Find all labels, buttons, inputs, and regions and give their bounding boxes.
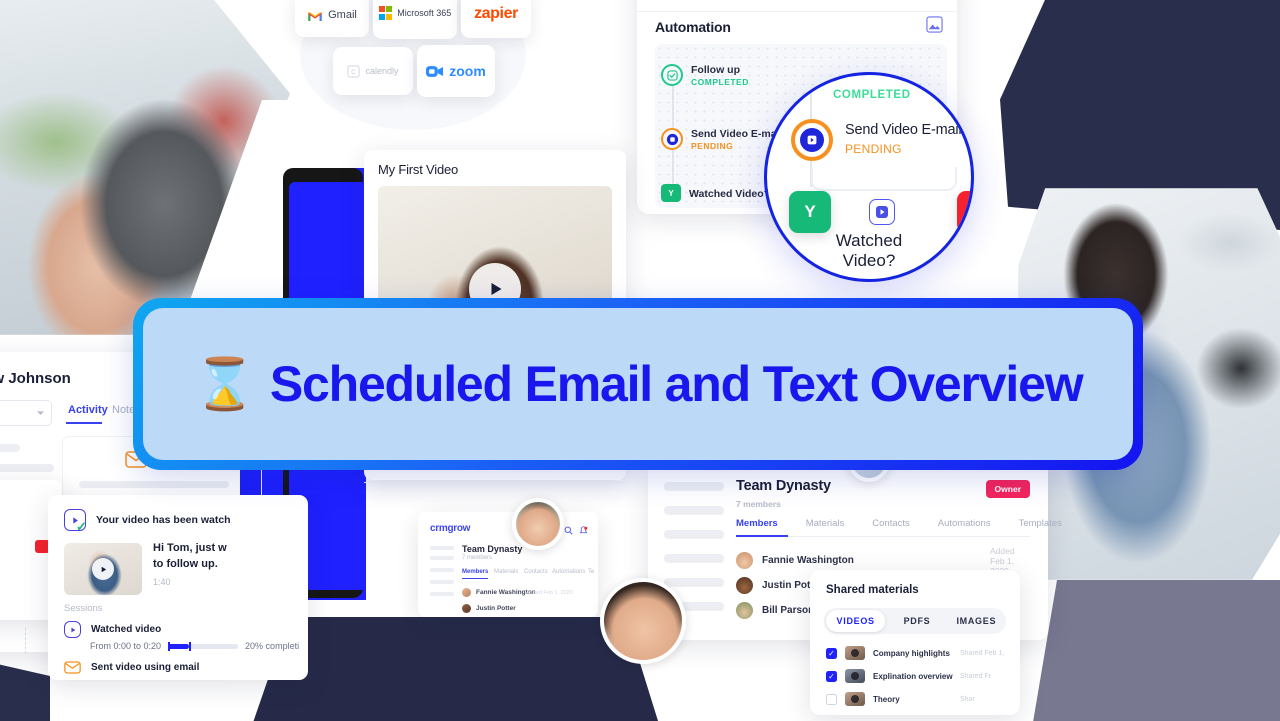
material-shared-date: Shared Fr xyxy=(960,673,991,680)
mini-tab-active-indicator xyxy=(462,578,488,579)
avatar-photo-woman xyxy=(600,578,686,664)
mini-tab-materials[interactable]: Materials xyxy=(494,569,518,575)
node-status: COMPLETED xyxy=(691,77,749,87)
flow-connector-2 xyxy=(672,150,674,184)
automation-toolbar xyxy=(637,0,957,12)
skeleton-line xyxy=(430,568,454,572)
integration-label-microsoft-365: Microsoft 365 xyxy=(397,8,451,18)
screenshot-canvas: Gmail Microsoft 365 zapier C calendly xyxy=(0,0,1280,721)
avatar-photo-man xyxy=(512,498,564,550)
svg-text:C: C xyxy=(352,69,357,76)
contact-name: ndrew Johnson xyxy=(0,370,71,387)
progress-bar[interactable] xyxy=(168,644,238,649)
material-thumbnail xyxy=(845,692,865,706)
play-icon[interactable] xyxy=(92,558,114,580)
progress-tick-start xyxy=(168,642,170,651)
decorative-gray-shape-bottom-right xyxy=(1030,580,1280,721)
material-shared-date: Shared Feb 1, xyxy=(960,650,1004,657)
tab-pdfs[interactable]: PDFS xyxy=(887,616,946,626)
progress-range-label: From 0:00 to 0:20 xyxy=(90,641,161,651)
tab-automations[interactable]: Automations xyxy=(938,518,991,529)
branch-badge-yes[interactable]: Y xyxy=(661,184,681,202)
mini-tab-automations[interactable]: Automations xyxy=(552,569,585,575)
material-checkbox[interactable] xyxy=(826,694,837,705)
mini-team-title: Team Dynasty xyxy=(462,544,522,554)
team-member-row[interactable]: Fannie Washington Added Feb 1, 2020 xyxy=(736,552,854,569)
material-name: Explination overview xyxy=(873,672,953,681)
image-icon[interactable] xyxy=(926,16,943,38)
flow-connector-1 xyxy=(672,86,674,128)
magnifier-question-line2: Video? xyxy=(767,251,971,271)
zapier-icon: zapier xyxy=(474,5,518,23)
material-checkbox[interactable]: ✓ xyxy=(826,671,837,682)
mini-tab-contacts[interactable]: Contacts xyxy=(524,569,548,575)
contact-status-select[interactable] xyxy=(0,400,52,426)
integration-card-gmail[interactable]: Gmail xyxy=(295,0,369,37)
magnifier-node-status: PENDING xyxy=(845,142,961,156)
video-duration: 1:40 xyxy=(153,577,171,587)
skeleton-line xyxy=(664,530,724,539)
session-row-label: Watched video xyxy=(91,624,161,635)
skeleton-line xyxy=(430,546,454,550)
branch-badge-yes[interactable]: Y xyxy=(789,191,831,233)
progress-fill xyxy=(168,644,189,649)
video-card-title: My First Video xyxy=(378,162,458,177)
mini-member-added: Added Feb 1, 2020 xyxy=(526,590,573,596)
shared-materials-title: Shared materials xyxy=(826,584,919,596)
mini-member-row[interactable]: Fannie Washington xyxy=(462,588,536,597)
tab-materials[interactable]: Materials xyxy=(806,518,845,529)
material-thumbnail xyxy=(845,646,865,660)
search-icon[interactable] xyxy=(564,526,573,535)
team-tabs: Members Materials Contacts Automations T… xyxy=(736,518,1062,529)
crmgrow-logo: crmgrow xyxy=(430,523,470,534)
envelope-icon xyxy=(64,661,81,674)
skeleton-line xyxy=(664,482,724,491)
tab-active-indicator xyxy=(66,422,102,424)
skeleton-line xyxy=(430,556,454,560)
hourglass-icon: ⌛ xyxy=(194,359,256,409)
material-checkbox[interactable]: ✓ xyxy=(826,648,837,659)
magnifier-question: Watched Video? xyxy=(767,231,971,270)
integration-card-zapier[interactable]: zapier xyxy=(461,0,531,38)
node-label: Watched Video? xyxy=(689,188,770,201)
magnifier-question-line1: Watched xyxy=(767,231,971,251)
video-message-line1: Hi Tom, just w xyxy=(153,541,227,557)
mini-team-subtitle: 7 members xyxy=(462,555,492,561)
session-row-sent[interactable]: Sent video using email xyxy=(64,661,199,674)
magnifier-branch-connector xyxy=(811,167,957,191)
sessions-label: Sessions xyxy=(64,603,103,614)
integration-card-microsoft-365[interactable]: Microsoft 365 xyxy=(373,0,457,39)
play-icon xyxy=(64,621,81,638)
tab-members[interactable]: Members xyxy=(736,518,778,529)
video-watched-notification-card: ✓ Your video has been watch Hi Tom, just… xyxy=(48,495,308,680)
owner-badge: Owner xyxy=(986,480,1030,498)
tab-contacts[interactable]: Contacts xyxy=(872,518,910,529)
watch-progress-row: From 0:00 to 0:20 20% completi xyxy=(90,641,299,651)
integrations-cluster: Gmail Microsoft 365 zapier C calendly xyxy=(284,0,542,142)
skeleton-line xyxy=(0,464,54,472)
overlay-banner: ⌛ Scheduled Email and Text Overview xyxy=(133,298,1143,470)
team-member-name: Fannie Washington xyxy=(762,555,854,566)
skeleton-line xyxy=(664,578,724,587)
tab-videos[interactable]: VIDEOS xyxy=(826,610,885,632)
mini-member-name: Justin Potter xyxy=(476,605,516,612)
session-row-label: Sent video using email xyxy=(91,662,199,673)
material-shared-date: Shar xyxy=(960,696,975,703)
tab-templates[interactable]: Templates xyxy=(1019,518,1062,529)
play-icon: ✓ xyxy=(64,509,86,531)
tab-activity[interactable]: Activity xyxy=(68,404,108,416)
team-member-count: 7 members xyxy=(736,499,781,509)
automation-node-follow-up[interactable]: Follow up COMPLETED xyxy=(661,64,749,87)
mini-team-panel: crmgrow Team Dynasty 7 members Members M… xyxy=(418,512,598,617)
material-row[interactable]: ✓ Explination overview Shared Fr xyxy=(826,669,953,683)
mini-member-row[interactable]: Justin Potter xyxy=(462,604,516,613)
skeleton-line xyxy=(79,481,229,488)
progress-tick-end xyxy=(189,642,191,651)
microsoft-icon xyxy=(379,6,393,20)
play-circle-icon xyxy=(791,119,833,161)
skeleton-line xyxy=(430,592,454,596)
material-thumbnail xyxy=(845,669,865,683)
material-row[interactable]: ✓ Company highlights Shared Feb 1, xyxy=(826,646,950,660)
skeleton-line xyxy=(430,580,454,584)
zoom-icon xyxy=(426,65,444,78)
check-icon: ✓ xyxy=(76,519,87,535)
video-message: Hi Tom, just w to follow up. xyxy=(153,541,227,573)
integration-card-calendly[interactable]: C calendly xyxy=(333,47,413,95)
avatar xyxy=(462,604,471,613)
page-title: Scheduled Email and Text Overview xyxy=(270,355,1083,413)
shared-materials-panel: Shared materials VIDEOS PDFS IMAGES ✓ Co… xyxy=(810,570,1020,715)
calendly-icon: C xyxy=(347,64,360,78)
check-circle-icon xyxy=(661,64,683,86)
node-label: Send Video E-mail xyxy=(691,128,782,141)
magnifier-node-title: Send Video E-mail xyxy=(845,122,961,138)
automation-title: Automation xyxy=(655,19,731,35)
node-label: Follow up xyxy=(691,64,749,77)
team-member-row[interactable]: Bill Parsons xyxy=(736,602,820,619)
avatar xyxy=(736,577,753,594)
session-timeline-connector xyxy=(25,628,26,654)
mini-tab-members[interactable]: Members xyxy=(462,569,488,575)
progress-completion-label: 20% completi xyxy=(245,641,299,651)
material-name: Theory xyxy=(873,695,900,704)
automation-node-watched-video[interactable]: Y Watched Video? xyxy=(661,184,770,202)
skeleton-line xyxy=(0,444,20,452)
video-thumbnail[interactable] xyxy=(64,543,142,595)
automation-node-send-video-email[interactable]: Send Video E-mail PENDING xyxy=(661,128,782,151)
mini-panel-icons xyxy=(564,526,588,535)
play-circle-icon xyxy=(661,128,683,150)
integration-label-zoom: zoom xyxy=(449,63,486,79)
avatar xyxy=(736,552,753,569)
avatar xyxy=(736,602,753,619)
watch-card-header: ✓ Your video has been watch xyxy=(64,509,231,531)
skeleton-line xyxy=(664,554,724,563)
branch-badge-no[interactable]: N xyxy=(957,191,974,233)
tab-images[interactable]: IMAGES xyxy=(947,616,1006,626)
integration-card-zoom[interactable]: zoom xyxy=(417,45,495,97)
skeleton-line xyxy=(664,506,724,515)
play-icon xyxy=(869,199,895,225)
magnifier-completed-status: COMPLETED xyxy=(833,89,911,101)
video-message-line2: to follow up. xyxy=(153,557,227,573)
watch-card-title: Your video has been watch xyxy=(96,514,231,526)
tab-active-indicator xyxy=(736,535,788,537)
integration-label-calendly: calendly xyxy=(365,66,398,76)
bell-icon[interactable] xyxy=(579,526,588,535)
material-row[interactable]: Theory Shar xyxy=(826,692,900,706)
mini-tab-templates[interactable]: Te xyxy=(588,569,594,575)
team-title: Team Dynasty xyxy=(736,478,831,494)
chevron-down-icon xyxy=(37,411,44,416)
integration-label-gmail: Gmail xyxy=(328,9,357,21)
session-row-watched[interactable]: Watched video xyxy=(64,621,161,638)
overlay-banner-inner: ⌛ Scheduled Email and Text Overview xyxy=(143,308,1133,460)
gmail-icon xyxy=(307,9,323,21)
decorative-navy-strip-left xyxy=(0,660,50,721)
material-name: Company highlights xyxy=(873,649,950,658)
avatar xyxy=(462,588,471,597)
divider xyxy=(364,482,626,483)
magnifier-node-send-video-email[interactable]: Send Video E-mail PENDING xyxy=(791,119,961,161)
automation-magnifier-overlay: COMPLETED Send Video E-mail PENDING Y N … xyxy=(764,72,974,282)
shared-materials-tabs: VIDEOS PDFS IMAGES xyxy=(824,608,1006,634)
